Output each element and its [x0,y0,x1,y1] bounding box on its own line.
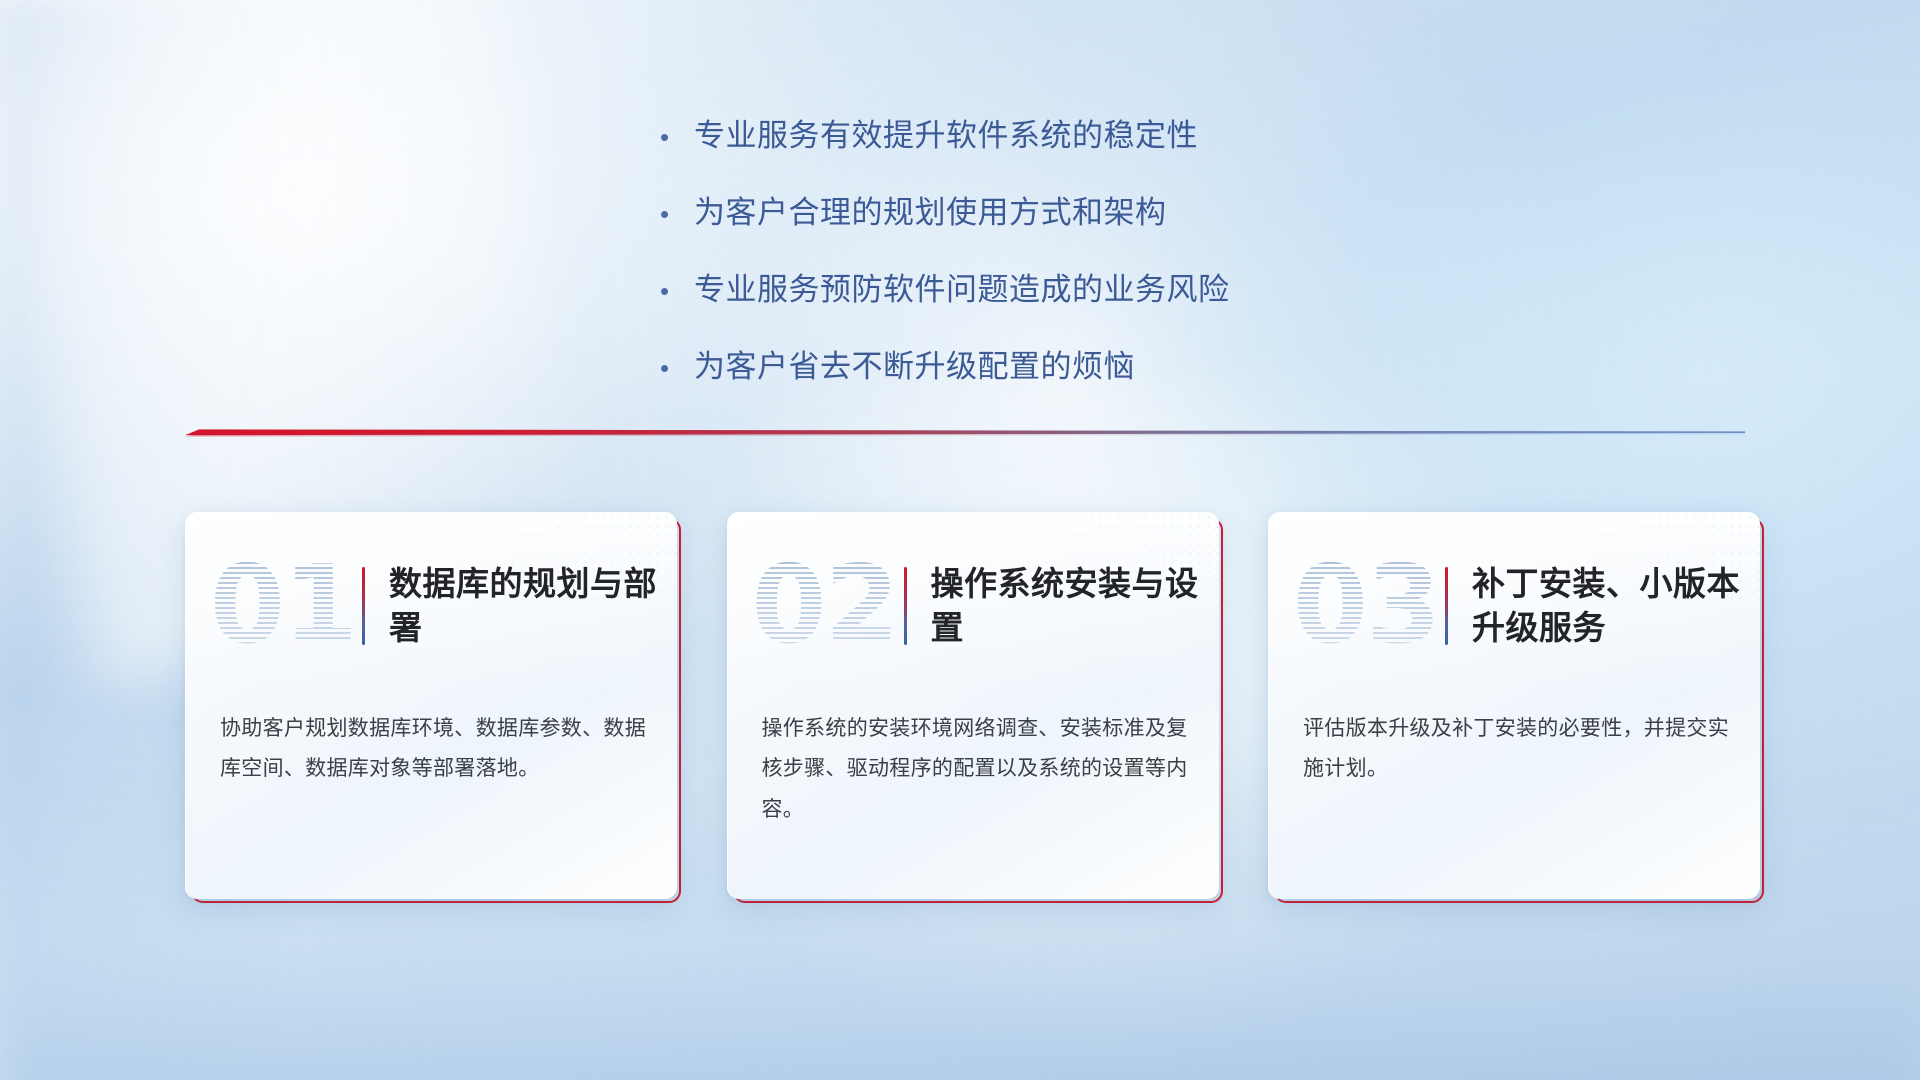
bullet-dot-icon: • [660,278,694,304]
card-header: 03 补丁安装、小版本升级服务 [1269,531,1760,681]
service-card-01[interactable]: 01 数据库的规划与部署 协助客户规划数据库环境、数据库参数、数据库空间、数据库… [185,512,677,899]
list-item: • 专业服务预防软件问题造成的业务风险 [660,264,1420,309]
card-surface: 01 数据库的规划与部署 协助客户规划数据库环境、数据库参数、数据库空间、数据库… [185,512,677,899]
bullet-dot-icon: • [660,201,694,227]
bullet-dot-icon: • [660,124,694,150]
service-card-02[interactable]: 02 操作系统安装与设置 操作系统的安装环境网络调查、安装标准及复核步骤、驱动程… [727,512,1219,899]
card-title: 补丁安装、小版本升级服务 [1472,562,1760,649]
benefits-bullet-list: • 专业服务有效提升软件系统的稳定性 • 为客户合理的规划使用方式和架构 • 专… [660,110,1420,418]
service-card-03[interactable]: 03 补丁安装、小版本升级服务 评估版本升级及补丁安装的必要性，并提交实施计划。 [1268,512,1760,899]
card-description: 协助客户规划数据库环境、数据库参数、数据库空间、数据库对象等部署落地。 [220,709,647,790]
card-number-text: 03 [1293,552,1439,660]
bullet-dot-icon: • [660,355,694,381]
card-surface: 03 补丁安装、小版本升级服务 评估版本升级及补丁安装的必要性，并提交实施计划。 [1268,512,1760,899]
card-divider-bar [904,567,907,645]
card-divider-bar [1445,567,1448,645]
bullet-text: 专业服务有效提升软件系统的稳定性 [694,110,1198,155]
card-surface: 02 操作系统安装与设置 操作系统的安装环境网络调查、安装标准及复核步骤、驱动程… [727,512,1219,899]
card-header: 01 数据库的规划与部署 [186,531,677,681]
card-description: 操作系统的安装环境网络调查、安装标准及复核步骤、驱动程序的配置以及系统的设置等内… [762,709,1189,830]
section-divider-shape [185,424,1745,440]
card-number-watermark: 02 [750,542,900,670]
card-divider-bar [362,567,365,645]
bullet-text: 为客户省去不断升级配置的烦恼 [694,341,1135,386]
service-cards-row: 01 数据库的规划与部署 协助客户规划数据库环境、数据库参数、数据库空间、数据库… [185,512,1760,912]
section-divider [185,424,1745,440]
card-number-watermark: 01 [208,542,358,670]
list-item: • 专业服务有效提升软件系统的稳定性 [660,110,1420,155]
card-description: 评估版本升级及补丁安装的必要性，并提交实施计划。 [1303,709,1730,790]
card-header: 02 操作系统安装与设置 [728,531,1219,681]
card-title: 数据库的规划与部署 [389,562,677,649]
card-title: 操作系统安装与设置 [931,562,1219,649]
list-item: • 为客户合理的规划使用方式和架构 [660,187,1420,232]
bullet-text: 为客户合理的规划使用方式和架构 [694,187,1167,232]
list-item: • 为客户省去不断升级配置的烦恼 [660,341,1420,386]
card-number-text: 02 [751,552,897,660]
bullet-text: 专业服务预防软件问题造成的业务风险 [694,264,1230,309]
card-number-text: 01 [210,552,356,660]
card-number-watermark: 03 [1291,542,1441,670]
